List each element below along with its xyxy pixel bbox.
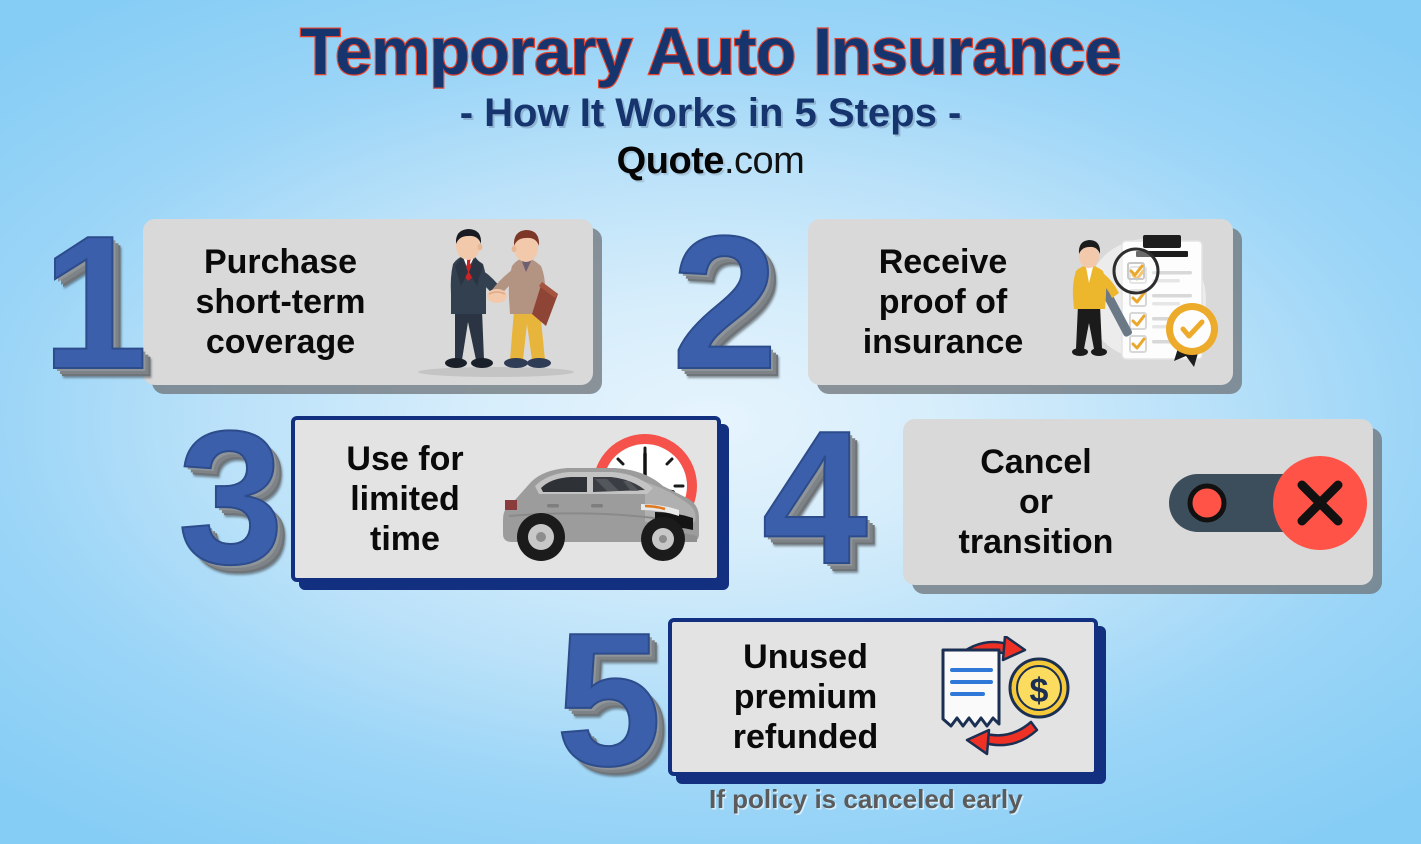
step-number-3: 3 [178,403,284,593]
step-text-line: limited [321,479,489,519]
step-card-3[interactable]: Use for limited time [291,416,721,582]
step-text-line: time [321,519,489,559]
step-text-line: transition [913,522,1159,562]
step-number-5: 5 [556,605,662,795]
brand-logo: Quote.com [0,140,1421,183]
step-card-1[interactable]: Purchase short-term coverage [143,219,593,385]
step-text-5: Unused premium refunded [698,637,913,757]
step-card-4[interactable]: Cancel or transition [903,419,1373,585]
step-text-4: Cancel or transition [913,442,1159,562]
page-subtitle: - How It Works in 5 Steps - [0,91,1421,136]
header: Temporary Auto Insurance - How It Works … [0,0,1421,183]
step-text-line: Purchase [163,242,398,282]
step-text-line: insurance [824,322,1062,362]
step-text-line: premium [698,677,913,717]
brand-name: Quote [617,140,724,182]
receipt-refund-illustration: $ [921,636,1076,758]
step-card-2[interactable]: Receive proof of insurance [808,219,1233,385]
step-text-line: Cancel [913,442,1159,482]
footer-caption: If policy is canceled early [709,784,1023,815]
toggle-switch-off-icon[interactable] [1165,452,1375,552]
car-with-clock-illustration [495,424,710,574]
step-text-line: Unused [698,637,913,677]
step-text-line: or [913,482,1159,522]
svg-text:$: $ [1030,672,1049,710]
step-text-1: Purchase short-term coverage [163,242,398,362]
step-number-4: 4 [762,403,868,593]
step-text-line: short-term [163,282,398,322]
step-text-line: proof of [824,282,1062,322]
brand-tld: .com [724,140,804,182]
step-text-3: Use for limited time [321,439,489,559]
step-text-line: Use for [321,439,489,479]
step-text-line: refunded [698,717,913,757]
step-text-line: Receive [824,242,1062,282]
step-text-line: coverage [163,322,398,362]
step-text-2: Receive proof of insurance [824,242,1062,362]
step-card-5[interactable]: Unused premium refunded [668,618,1098,776]
handshake-illustration [406,222,586,382]
page-title: Temporary Auto Insurance [0,18,1421,85]
infographic-canvas: Temporary Auto Insurance - How It Works … [0,0,1421,844]
checklist-clipboard-illustration [1064,227,1224,377]
step-number-2: 2 [672,208,778,398]
step-number-1: 1 [42,208,148,398]
